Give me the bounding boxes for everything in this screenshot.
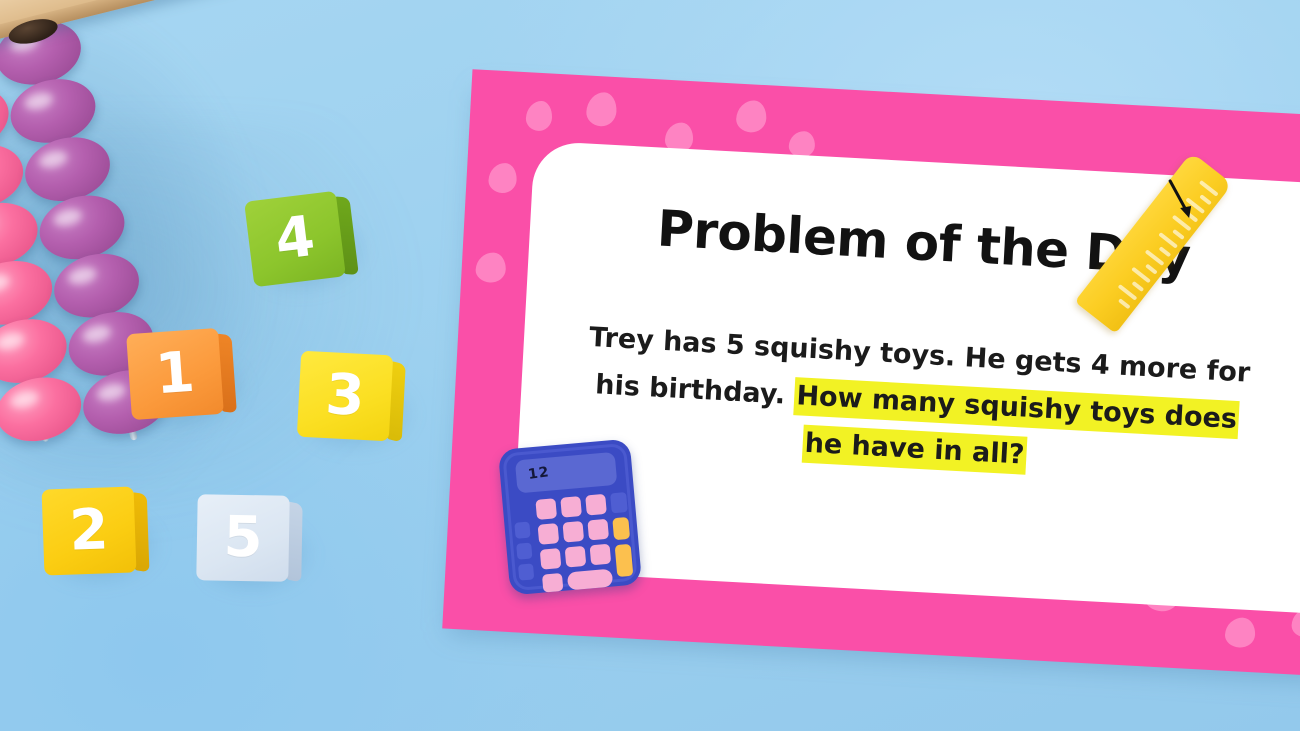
ruler-tick [1118, 298, 1131, 309]
heart-blob [1224, 617, 1256, 649]
heart-blob [1291, 608, 1300, 637]
calculator-key [562, 521, 584, 543]
heart-blob [736, 100, 768, 134]
calculator-key [514, 522, 530, 539]
ruler-tick [1131, 281, 1144, 292]
problem-text-highlighted: How many squishy toys does he have in al… [793, 377, 1239, 475]
calculator-key [587, 519, 609, 541]
calculator-key [516, 542, 532, 559]
calculator-key [560, 496, 582, 518]
block-number: 5 [196, 494, 289, 582]
calculator-key [590, 544, 612, 566]
number-block-5: 5 [196, 494, 289, 582]
calculator-key-accent [612, 517, 630, 540]
block-number: 1 [126, 328, 224, 420]
calculator-key [585, 494, 607, 516]
calculator-key [542, 573, 563, 593]
number-block-3: 3 [297, 351, 393, 442]
ruler-tick [1172, 229, 1185, 240]
calculator-key-accent [615, 544, 634, 577]
heart-blob [586, 91, 618, 127]
heart-blob [488, 162, 518, 193]
ruler-tick [1145, 264, 1158, 275]
number-block-2: 2 [42, 486, 137, 575]
calculator-key [535, 498, 557, 520]
calculator-key [538, 523, 560, 545]
calculator-key [610, 492, 628, 513]
calculator-key [540, 548, 562, 570]
ruler-tick [1159, 246, 1172, 257]
calculator-illustration: 12 [498, 439, 642, 596]
calculator-display-value: 12 [527, 464, 551, 483]
block-number: 2 [42, 486, 137, 575]
block-number: 3 [297, 351, 393, 442]
calculator-key [518, 563, 534, 580]
block-number: 4 [244, 191, 346, 288]
number-block-4: 4 [244, 191, 346, 288]
heart-blob [525, 100, 553, 131]
ruler-tick [1199, 194, 1212, 205]
arrow-icon [1166, 178, 1196, 224]
heart-blob [475, 252, 507, 284]
poster-scene: 4 1 3 2 5 [0, 0, 1300, 731]
calculator-key [565, 546, 587, 568]
number-block-1: 1 [126, 328, 224, 420]
